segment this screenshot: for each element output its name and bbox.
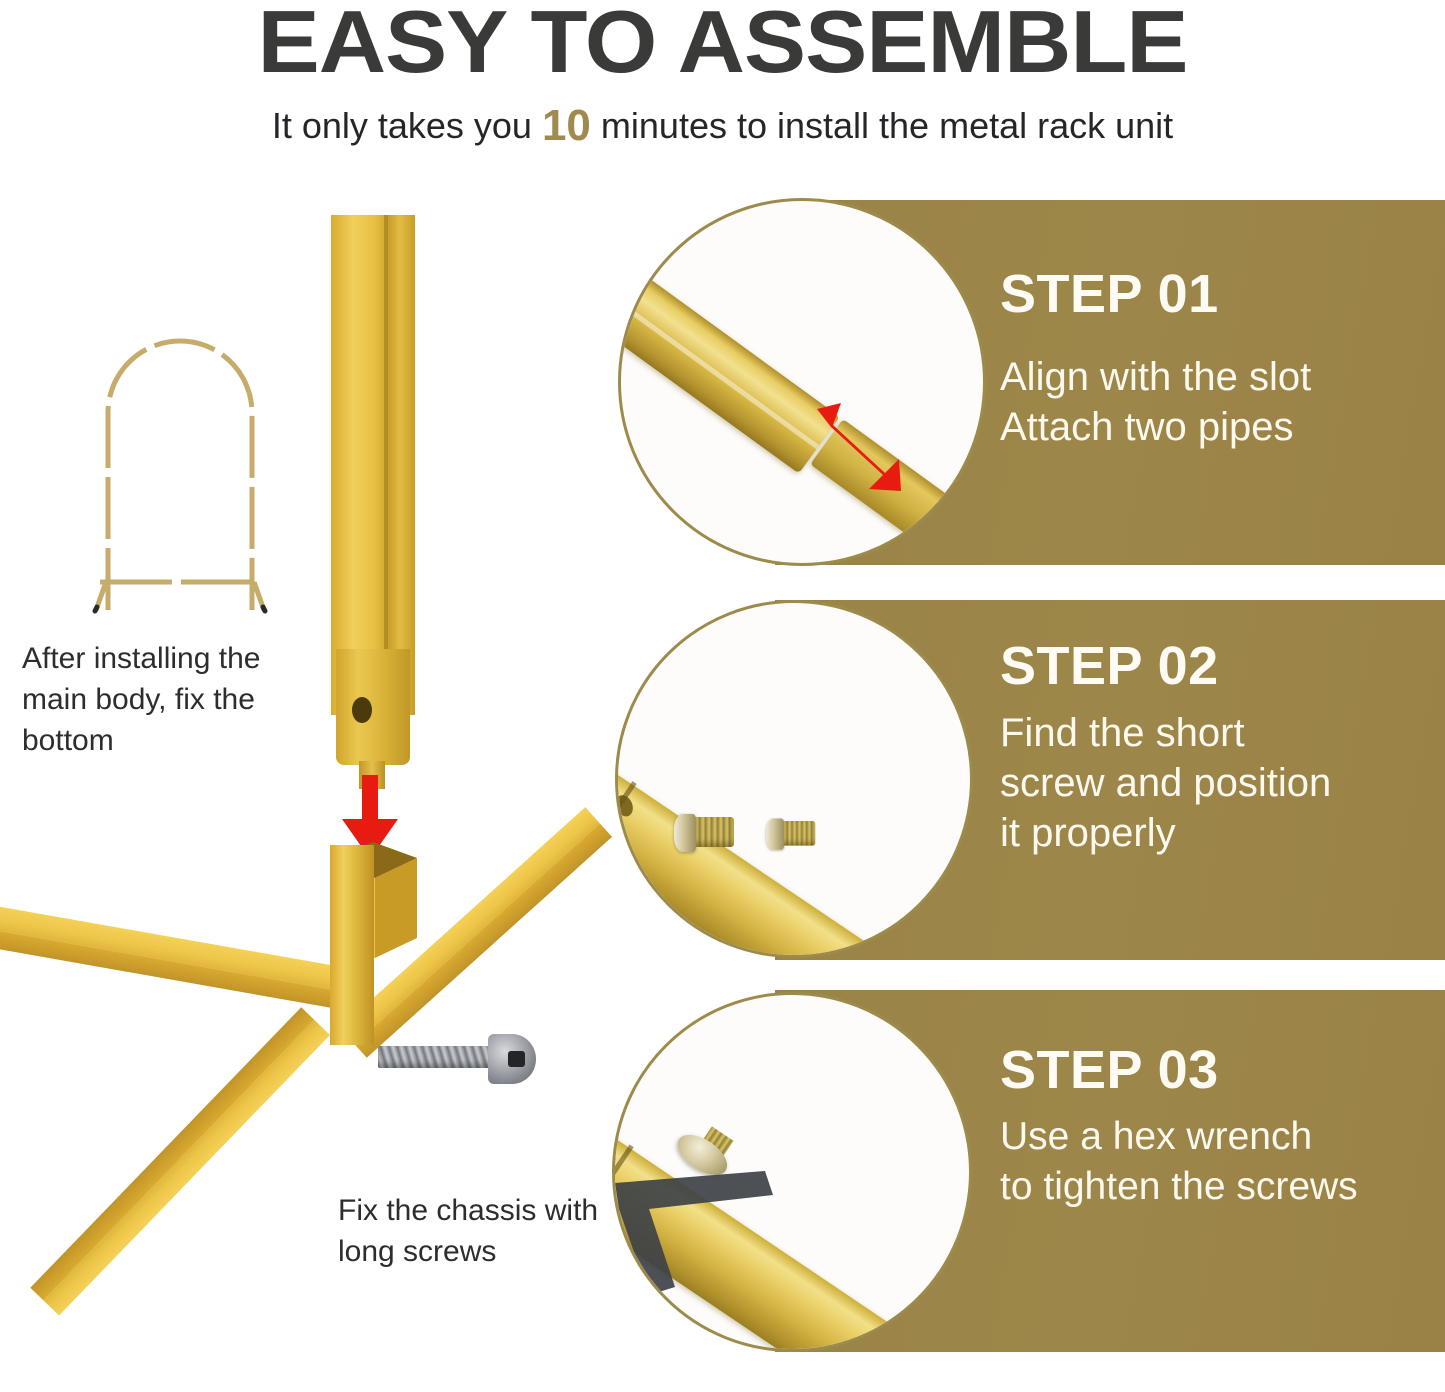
step-1-desc-line-1: Align with the slot <box>1000 352 1437 402</box>
step-1-label: STEP 01 <box>1000 266 1437 322</box>
step-2-text-block: STEP 02 Find the short screw and positio… <box>1000 638 1437 858</box>
step-1-description: Align with the slot Attach two pipes <box>1000 352 1437 452</box>
step-3-text-block: STEP 03 Use a hex wrench to tighten the … <box>1000 1042 1437 1212</box>
screw-head <box>766 819 784 850</box>
infographic-canvas: EASY TO ASSEMBLE It only takes you 10 mi… <box>0 0 1445 1392</box>
step-2-description: Find the short screw and position it pro… <box>1000 708 1437 858</box>
header: EASY TO ASSEMBLE It only takes you 10 mi… <box>0 0 1445 175</box>
page-subtitle: It only takes you 10 minutes to install … <box>0 104 1445 148</box>
subtitle-minutes-number: 10 <box>542 101 591 150</box>
step-3-photo-bubble <box>612 992 972 1352</box>
screw-head <box>488 1034 536 1084</box>
arch-frame-outline-icon <box>70 310 290 620</box>
chassis-leg-left <box>0 905 354 1011</box>
chassis-leg-lower <box>30 1007 330 1315</box>
step-2-photo <box>618 603 970 955</box>
pipe-upper <box>618 223 840 474</box>
subtitle-suffix: minutes to install the metal rack unit <box>591 105 1173 146</box>
step-3-photo <box>615 995 969 1349</box>
step-1-text-block: STEP 01 Align with the slot Attach two p… <box>1000 266 1437 452</box>
arch-install-note: After installing the main body, fix the … <box>22 638 312 761</box>
step-2-desc-line-2: screw and position <box>1000 758 1437 808</box>
step-3-description: Use a hex wrench to tighten the screws <box>1000 1112 1437 1212</box>
red-diagonal-arrow-icon <box>811 399 907 495</box>
step-2-desc-line-1: Find the short <box>1000 708 1437 758</box>
chassis-screw-note: Fix the chassis with long screws <box>338 1190 638 1272</box>
leg-side-face <box>30 1007 314 1300</box>
step-3-desc-line-2: to tighten the screws <box>1000 1162 1437 1212</box>
step-1-desc-line-2: Attach two pipes <box>1000 402 1437 452</box>
step-3-desc-line-1: Use a hex wrench <box>1000 1112 1437 1162</box>
pipe-tip-with-hole <box>336 649 410 765</box>
screw-hole <box>615 793 636 819</box>
step-2-desc-line-3: it properly <box>1000 808 1437 858</box>
step-1-photo-bubble <box>618 198 986 566</box>
vertical-pipe-illustration <box>331 215 415 760</box>
step-3-label: STEP 03 <box>1000 1042 1437 1098</box>
screw-shank <box>378 1046 496 1068</box>
subtitle-prefix: It only takes you <box>272 105 542 146</box>
hex-wrench-icon <box>615 1165 805 1295</box>
chassis-upright-post <box>330 845 374 1045</box>
pipe-edge-highlight <box>384 215 388 715</box>
long-hex-screw-illustration <box>378 1030 538 1090</box>
page-title: EASY TO ASSEMBLE <box>0 0 1445 88</box>
step-2-label: STEP 02 <box>1000 638 1437 694</box>
screw-head <box>674 814 696 852</box>
leg-top-face <box>43 1019 330 1315</box>
step-1-photo <box>621 201 983 563</box>
step-2-photo-bubble <box>615 600 973 958</box>
pipe-body <box>331 215 415 715</box>
